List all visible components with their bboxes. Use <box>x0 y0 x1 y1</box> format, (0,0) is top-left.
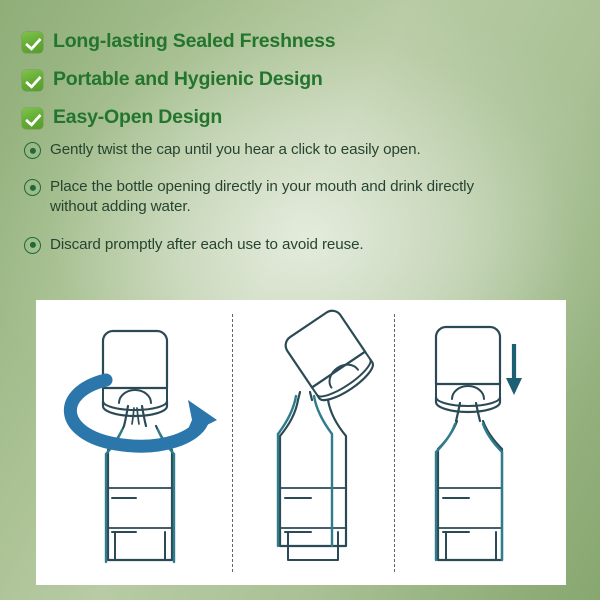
bullet-dot-icon <box>24 142 41 159</box>
instruction-list: Gently twist the cap until you hear a cl… <box>24 140 564 272</box>
instruction-item: Discard promptly after each use to avoid… <box>24 235 564 255</box>
feature-heading-list: Long-lasting Sealed Freshness Portable a… <box>22 26 582 140</box>
bullet-dot-icon <box>24 179 41 196</box>
product-instruction-graphic: Long-lasting Sealed Freshness Portable a… <box>0 0 600 600</box>
twist-cap-step <box>36 300 232 585</box>
check-box-icon <box>22 108 43 129</box>
bottle-with-detached-cap-icon <box>232 300 394 585</box>
check-box-icon <box>22 32 43 53</box>
instruction-item: Gently twist the cap until you hear a cl… <box>24 140 564 160</box>
instruction-text: Discard promptly after each use to avoid… <box>50 235 364 255</box>
bullet-dot-icon <box>24 237 41 254</box>
down-arrow-icon <box>506 344 522 395</box>
feature-item: Portable and Hygienic Design <box>22 64 582 96</box>
feature-item: Long-lasting Sealed Freshness <box>22 26 582 58</box>
feature-label: Portable and Hygienic Design <box>53 70 323 90</box>
feature-label: Long-lasting Sealed Freshness <box>53 32 335 52</box>
instruction-item: Place the bottle opening directly in you… <box>24 177 564 217</box>
illustration-panel <box>36 300 566 585</box>
press-cap-step <box>394 300 566 585</box>
remove-cap-step <box>232 300 394 585</box>
bottle-with-down-arrow-icon <box>394 300 566 585</box>
feature-label: Easy-Open Design <box>53 108 222 128</box>
instruction-text: Place the bottle opening directly in you… <box>50 177 520 217</box>
bottle-with-rotation-arrow-icon <box>36 300 232 585</box>
instruction-text: Gently twist the cap until you hear a cl… <box>50 140 421 160</box>
feature-item: Easy-Open Design <box>22 102 582 134</box>
check-box-icon <box>22 70 43 91</box>
